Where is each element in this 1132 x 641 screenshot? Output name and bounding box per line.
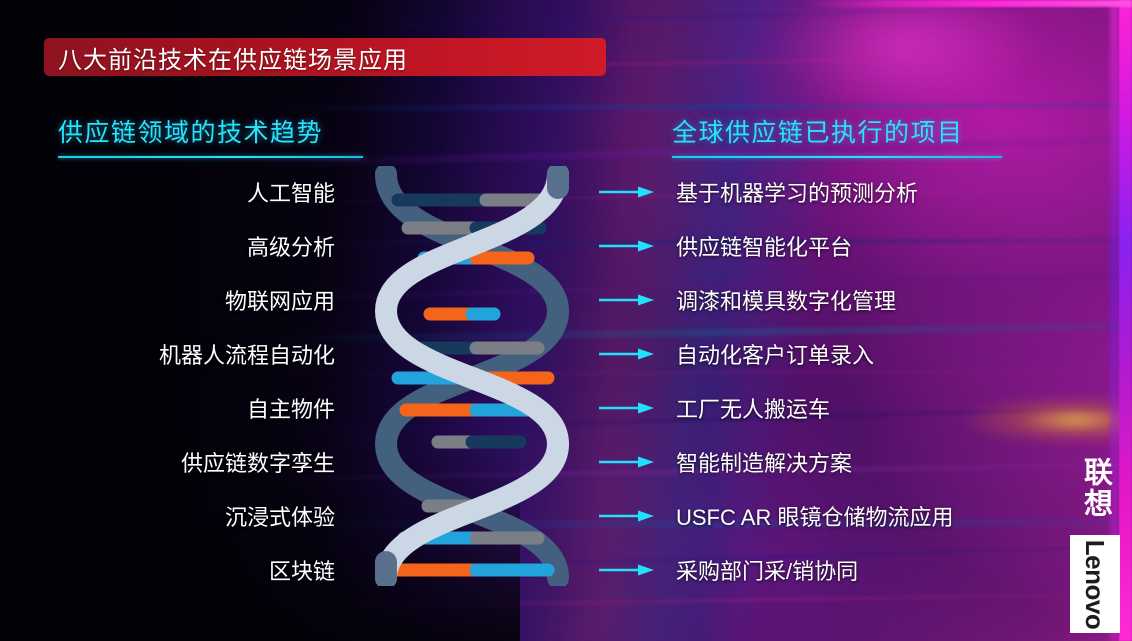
executed-project-item-label: 自动化客户订单录入 [676, 338, 874, 370]
executed-project-item-label: 调漆和模具数字化管理 [676, 284, 896, 316]
connector-arrow-row [598, 435, 658, 489]
executed-project-item: 供应链智能化平台 [676, 219, 1016, 273]
arrow-right-icon [598, 563, 656, 577]
arrow-right-icon [598, 293, 656, 307]
arrow-right-icon [598, 239, 656, 253]
connector-arrow-row [598, 543, 658, 597]
slide-title-banner: 八大前沿技术在供应链场景应用 [44, 38, 606, 76]
lenovo-logo-box: Lenovo [1070, 535, 1120, 633]
technology-trend-item-label: 高级分析 [247, 230, 335, 262]
technology-trend-item-label: 区块链 [269, 554, 335, 586]
technology-trend-item: 人工智能 [60, 165, 335, 219]
lenovo-logo-en-text: Lenovo [1080, 539, 1111, 628]
technology-trend-item: 自主物件 [60, 381, 335, 435]
connector-arrow-row [598, 327, 658, 381]
left-column-header-text: 供应链领域的技术趋势 [58, 113, 363, 149]
connector-arrow-row [598, 489, 658, 543]
technology-trend-item-label: 机器人流程自动化 [159, 338, 335, 370]
executed-project-item: USFC AR 眼镜仓储物流应用 [676, 489, 1016, 543]
connector-arrow-row [598, 165, 658, 219]
edge-accent-top [802, 0, 1132, 7]
arrow-right-icon [598, 509, 656, 523]
connector-arrow-row [598, 273, 658, 327]
connector-arrows [598, 165, 658, 597]
technology-trend-item: 区块链 [60, 543, 335, 597]
technology-trend-item: 高级分析 [60, 219, 335, 273]
technology-trend-item: 物联网应用 [60, 273, 335, 327]
arrow-right-icon [598, 185, 656, 199]
technology-trends-list: 人工智能高级分析物联网应用机器人流程自动化自主物件供应链数字孪生沉浸式体验区块链 [60, 165, 335, 597]
executed-project-item: 自动化客户订单录入 [676, 327, 1016, 381]
arrow-right-icon [598, 401, 656, 415]
dna-helix-svg [372, 166, 572, 586]
technology-trend-item: 沉浸式体验 [60, 489, 335, 543]
executed-project-item: 基于机器学习的预测分析 [676, 165, 1016, 219]
technology-trend-item: 供应链数字孪生 [60, 435, 335, 489]
executed-projects-list: 基于机器学习的预测分析供应链智能化平台调漆和模具数字化管理自动化客户订单录入工厂… [676, 165, 1016, 597]
executed-project-item-label: 智能制造解决方案 [676, 446, 852, 478]
slide-canvas: 八大前沿技术在供应链场景应用 供应链领域的技术趋势 全球供应链已执行的项目 [0, 0, 1132, 641]
arrow-right-icon [598, 455, 656, 469]
executed-project-item-label: 工厂无人搬运车 [676, 392, 830, 424]
executed-project-item: 调漆和模具数字化管理 [676, 273, 1016, 327]
left-column-header-rule [58, 156, 363, 158]
left-column-header: 供应链领域的技术趋势 [58, 113, 363, 158]
technology-trend-item: 机器人流程自动化 [60, 327, 335, 381]
executed-project-item: 智能制造解决方案 [676, 435, 1016, 489]
technology-trend-item-label: 供应链数字孪生 [181, 446, 335, 478]
executed-project-item: 采购部门采/销协同 [676, 543, 1016, 597]
right-column-header-text: 全球供应链已执行的项目 [672, 113, 1002, 149]
executed-project-item-label: 基于机器学习的预测分析 [676, 176, 918, 208]
right-column-header-rule [672, 156, 1002, 158]
right-column-header: 全球供应链已执行的项目 [672, 113, 1002, 158]
executed-project-item: 工厂无人搬运车 [676, 381, 1016, 435]
technology-trend-item-label: 自主物件 [247, 392, 335, 424]
slide-title: 八大前沿技术在供应链场景应用 [44, 40, 408, 75]
connector-arrow-row [598, 219, 658, 273]
lenovo-logo-cn-text: 联想 [1081, 457, 1110, 519]
technology-trend-item-label: 物联网应用 [225, 284, 335, 316]
lenovo-logo: 联想 Lenovo [1064, 447, 1126, 633]
arrow-right-icon [598, 347, 656, 361]
lenovo-logo-cn: 联想 [1064, 447, 1126, 529]
executed-project-item-label: USFC AR 眼镜仓储物流应用 [676, 500, 953, 532]
executed-project-item-label: 采购部门采/销协同 [676, 554, 858, 586]
executed-project-item-label: 供应链智能化平台 [676, 230, 852, 262]
technology-trend-item-label: 沉浸式体验 [225, 500, 335, 532]
technology-trend-item-label: 人工智能 [247, 176, 335, 208]
dna-double-helix-illustration [372, 166, 572, 586]
connector-arrow-row [598, 381, 658, 435]
